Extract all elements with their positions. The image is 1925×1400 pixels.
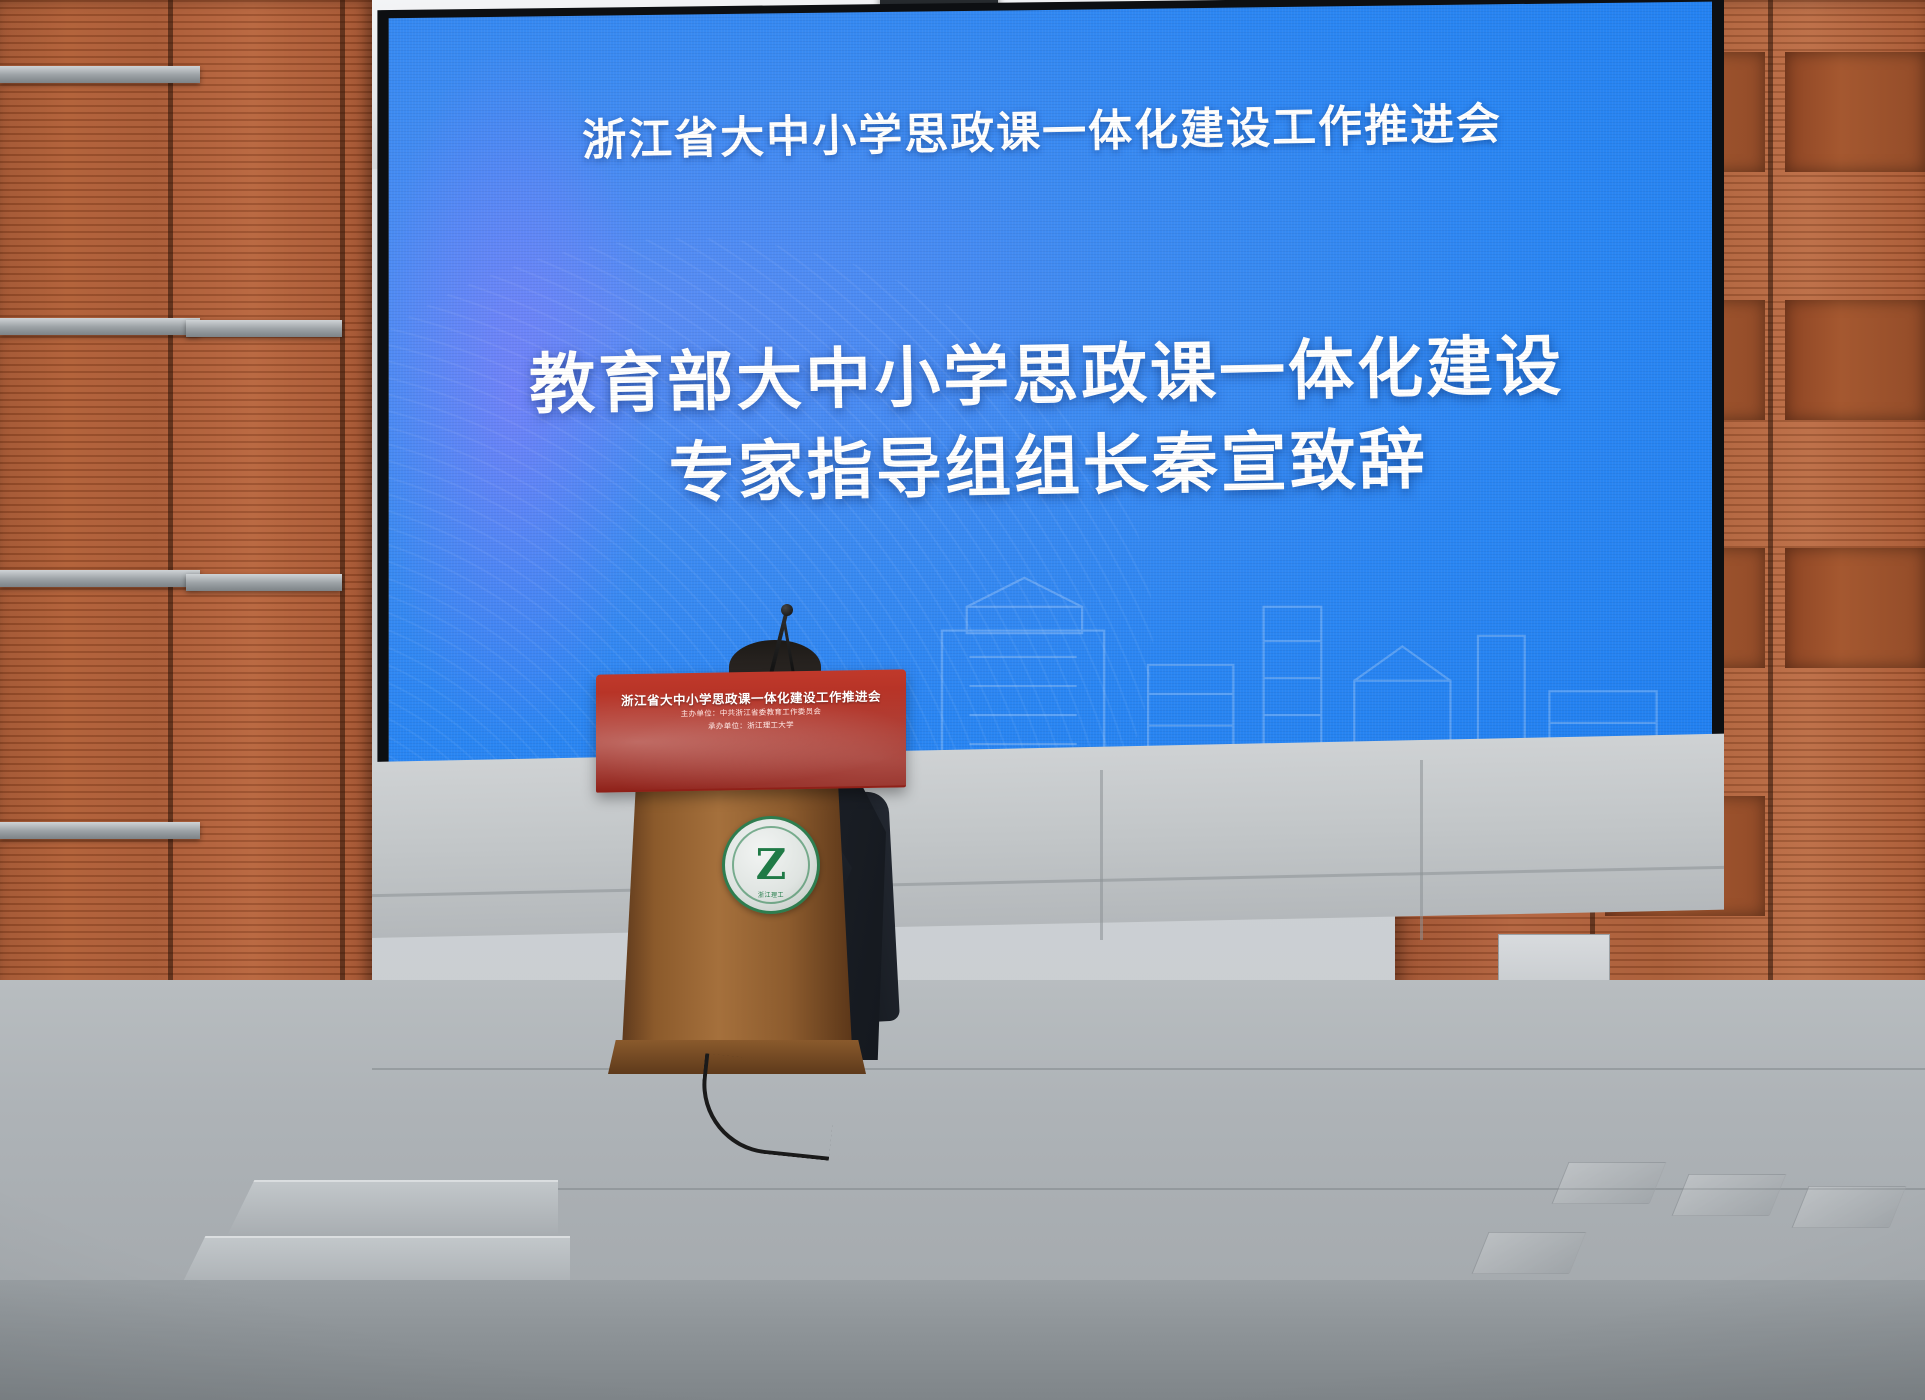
wall-light-strip [186,320,342,337]
podium-front-panel: 浙江省大中小学思政课一体化建设工作推进会 主办单位：中共浙江省委教育工作委员会 … [596,669,906,792]
wall-light-strip [186,574,342,591]
wall-seam [1100,770,1103,940]
floor-seam [372,1068,1925,1070]
wall-seam [1420,760,1423,940]
stage-floor-front [0,1280,1925,1400]
wall-light-strip [0,66,200,83]
wood-panel-block [1785,548,1925,668]
floor-tile [1552,1162,1667,1204]
wood-panel-block [1785,300,1925,420]
podium-column [622,786,852,1048]
stage-back-wall [372,734,1724,938]
microphone-head [781,604,793,616]
slide-heading: 浙江省大中小学思政课一体化建设工作推进会 [382,84,1708,172]
slide-main-title: 教育部大中小学思政课一体化建设 专家指导组组长秦宣致辞 [382,318,1712,524]
wall-light-strip [0,570,200,587]
led-screen: 浙江省大中小学思政课一体化建设工作推进会 教育部大中小学思政课一体化建设 专家指… [382,0,1712,792]
stage-step [228,1180,558,1234]
university-emblem: Z 浙江理工 [722,816,820,914]
floor-tile [1472,1232,1587,1274]
floor-tile [1792,1186,1907,1228]
wall-light-strip [0,822,200,839]
photo-scene: 浙江省大中小学思政课一体化建设工作推进会 教育部大中小学思政课一体化建设 专家指… [0,0,1925,1400]
wall-light-strip [0,318,200,335]
floor-tile [1672,1174,1787,1216]
emblem-text: 浙江理工 [725,890,817,899]
wood-panel-block [1785,52,1925,172]
